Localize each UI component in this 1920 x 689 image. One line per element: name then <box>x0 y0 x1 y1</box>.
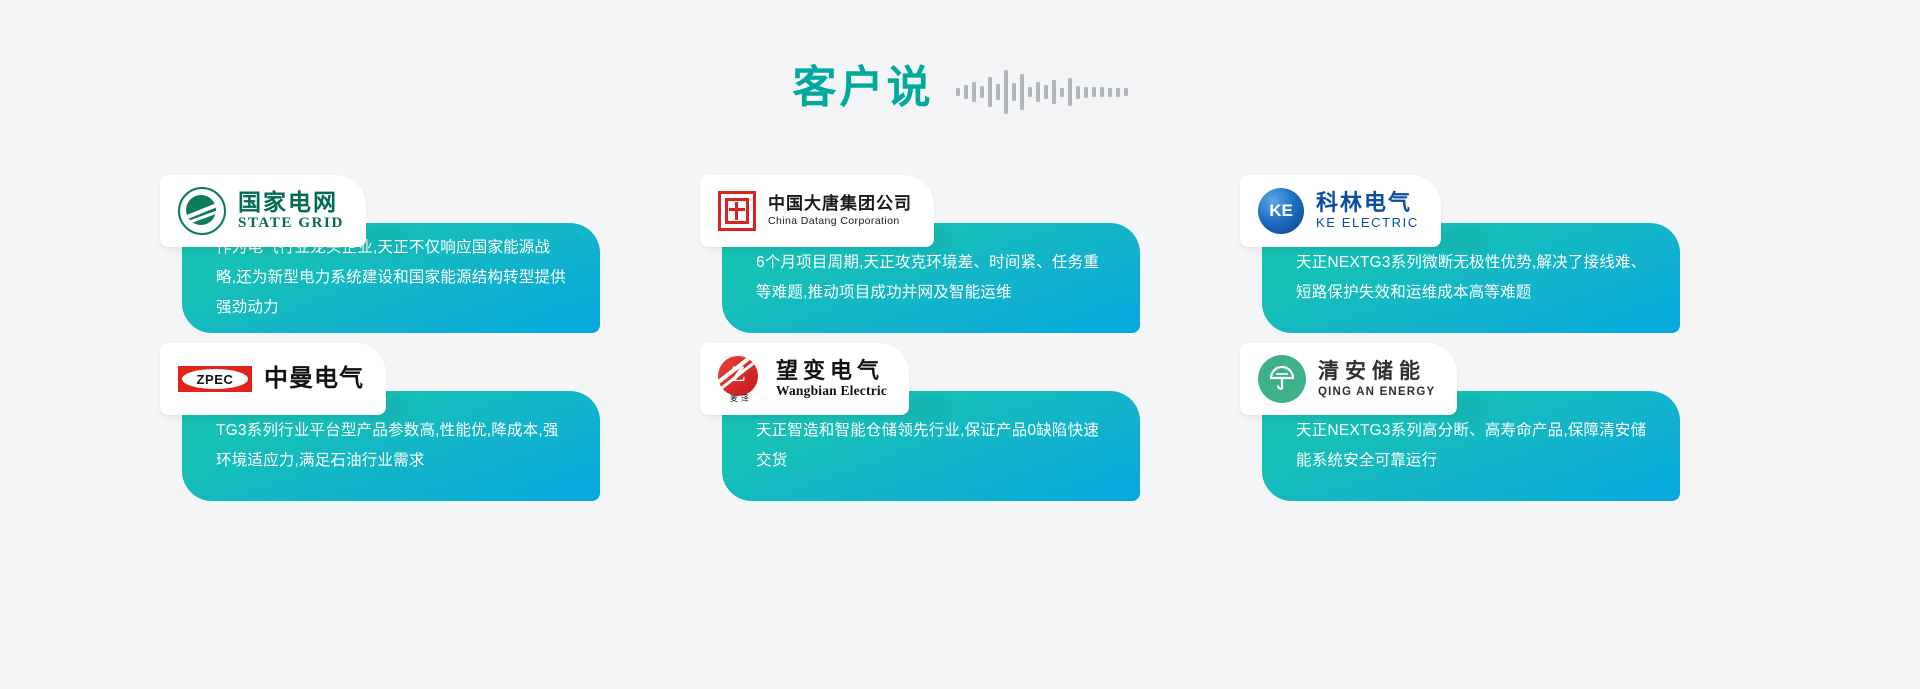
testimonial-quote: 天正智造和智能仓储领先行业,保证产品0缺陷快速交货 <box>722 416 1140 476</box>
waveform-bar <box>1012 83 1016 101</box>
waveform-bar <box>980 86 984 98</box>
brand-logo-plaque[interactable]: 国家电网STATE GRID <box>160 175 366 247</box>
brand-wordmark: 国家电网STATE GRID <box>238 190 344 232</box>
testimonial-quote: TG3系列行业平台型产品参数高,性能优,降成本,强环境适应力,满足石油行业需求 <box>182 416 600 476</box>
waveform-bar <box>964 85 968 99</box>
brand-logo-plaque[interactable]: ZPEC中曼电气 <box>160 343 386 415</box>
brand-name-cn: 清安储能 <box>1318 360 1435 383</box>
brand-wordmark: 望变电气Wangbian Electric <box>776 359 887 398</box>
waveform-bar <box>988 77 992 107</box>
brand-name-en: QING AN ENERGY <box>1318 386 1435 399</box>
brand-name-cn: 中国大唐集团公司 <box>768 195 912 214</box>
section-header: 客户说 <box>0 60 1920 116</box>
brand-logo-plaque[interactable]: 中国大唐集团公司China Datang Corporation <box>700 175 934 247</box>
brand-logo-plaque[interactable]: Z麦泽望变电气Wangbian Electric <box>700 343 909 415</box>
brand-name-cn: 科林电气 <box>1316 191 1419 215</box>
page-title: 客户说 <box>793 66 934 110</box>
brand-logo-plaque[interactable]: KE科林电气KE ELECTRIC <box>1240 175 1441 247</box>
brand-wordmark: 中曼电气 <box>264 366 364 392</box>
zpec-logo-icon: ZPEC <box>178 366 252 392</box>
state-grid-logo-icon <box>178 187 226 235</box>
audio-waveform-icon <box>956 68 1128 116</box>
testimonial-card[interactable]: 天正NEXTG3系列高分断、高寿命产品,保障清安储能系统安全可靠运行清安储能QI… <box>1240 343 1680 503</box>
waveform-bar <box>1060 88 1064 97</box>
china-datang-seal-icon <box>718 191 756 231</box>
waveform-bar <box>972 82 976 102</box>
brand-wordmark: 清安储能QING AN ENERGY <box>1318 360 1435 399</box>
brand-wordmark: 科林电气KE ELECTRIC <box>1316 191 1419 230</box>
waveform-bar <box>1084 87 1088 98</box>
waveform-bar <box>1124 88 1128 96</box>
brand-name-cn: 中曼电气 <box>264 366 364 392</box>
testimonial-quote: 天正NEXTG3系列微断无极性优势,解决了接线难、短路保护失效和运维成本高等难题 <box>1262 248 1680 308</box>
brand-logo-plaque[interactable]: 清安储能QING AN ENERGY <box>1240 343 1457 415</box>
waveform-bar <box>1076 86 1080 99</box>
brand-wordmark: 中国大唐集团公司China Datang Corporation <box>768 195 912 227</box>
brand-name-cn: 望变电气 <box>776 359 887 383</box>
ke-electric-logo-icon: KE <box>1258 188 1304 234</box>
qingan-energy-umbrella-icon <box>1258 355 1306 403</box>
brand-name-en: KE ELECTRIC <box>1316 216 1419 230</box>
testimonial-card[interactable]: TG3系列行业平台型产品参数高,性能优,降成本,强环境适应力,满足石油行业需求Z… <box>160 343 600 503</box>
testimonial-card[interactable]: 天正智造和智能仓储领先行业,保证产品0缺陷快速交货Z麦泽望变电气Wangbian… <box>700 343 1140 503</box>
waveform-bar <box>1116 88 1120 97</box>
waveform-bar <box>956 88 960 96</box>
wangbian-electric-logo-icon: Z麦泽 <box>718 356 764 402</box>
testimonial-card[interactable]: 天正NEXTG3系列微断无极性优势,解决了接线难、短路保护失效和运维成本高等难题… <box>1240 175 1680 335</box>
brand-name-en: China Datang Corporation <box>768 216 912 228</box>
waveform-bar <box>1068 78 1072 106</box>
waveform-bar <box>1004 70 1008 114</box>
testimonial-quote: 天正NEXTG3系列高分断、高寿命产品,保障清安储能系统安全可靠运行 <box>1262 416 1680 476</box>
waveform-bar <box>1108 88 1112 97</box>
testimonial-card[interactable]: 作为电气行业龙头企业,天正不仅响应国家能源战略,还为新型电力系统建设和国家能源结… <box>160 175 600 335</box>
testimonial-quote: 6个月项目周期,天正攻克环境差、时间紧、任务重等难题,推动项目成功并网及智能运维 <box>722 248 1140 308</box>
waveform-bar <box>1020 74 1024 110</box>
waveform-bar <box>1044 85 1048 99</box>
testimonial-grid: 作为电气行业龙头企业,天正不仅响应国家能源战略,还为新型电力系统建设和国家能源结… <box>160 175 1760 511</box>
waveform-bar <box>1028 87 1032 97</box>
waveform-bar <box>1092 87 1096 97</box>
brand-name-cn: 国家电网 <box>238 190 344 215</box>
testimonial-card[interactable]: 6个月项目周期,天正攻克环境差、时间紧、任务重等难题,推动项目成功并网及智能运维… <box>700 175 1140 335</box>
brand-name-en: Wangbian Electric <box>776 384 887 399</box>
waveform-bar <box>996 84 1000 100</box>
waveform-bar <box>1100 87 1104 97</box>
brand-name-en: STATE GRID <box>238 215 344 232</box>
waveform-bar <box>1036 82 1040 102</box>
waveform-bar <box>1052 80 1056 104</box>
